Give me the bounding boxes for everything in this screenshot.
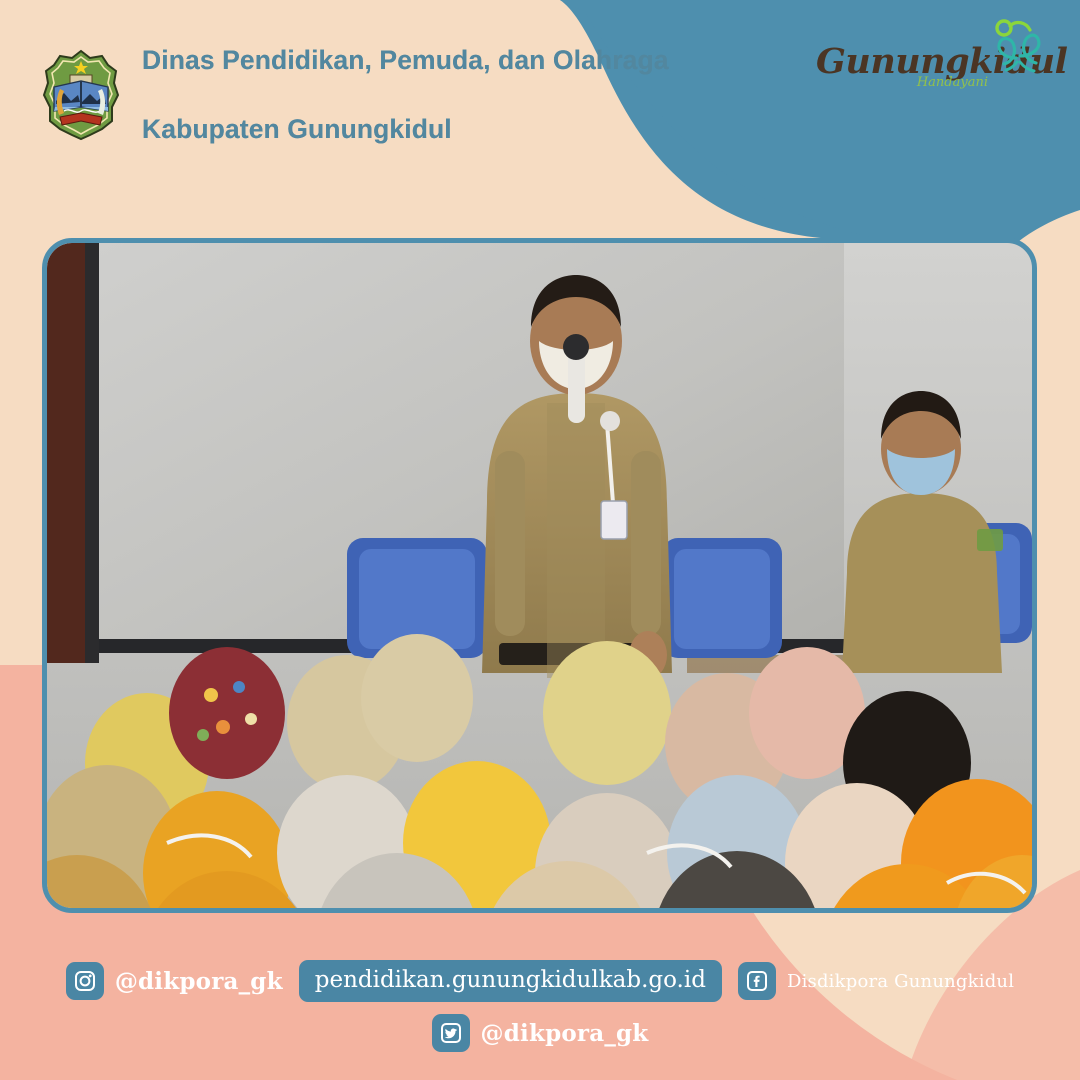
org-title-line-1: Dinas Pendidikan, Pemuda, dan Olahraga <box>142 43 669 77</box>
facebook-page-name: Disdikpora Gunungkidul <box>787 971 1014 992</box>
twitter-link[interactable]: @dikpora_gk <box>432 1014 649 1052</box>
attendee-pattern-dot <box>245 713 257 725</box>
footer-row-primary: @dikpora_gk pendidikan.gunungkidulkab.go… <box>66 960 1014 1002</box>
facebook-link[interactable]: Disdikpora Gunungkidul <box>738 962 1014 1000</box>
panel-edge <box>85 243 99 663</box>
ornament-swirl-2 <box>1020 35 1039 63</box>
facebook-icon[interactable] <box>738 962 776 1000</box>
website-url-button[interactable]: pendidikan.gunungkidulkab.go.id <box>299 960 722 1002</box>
butterfly-ornament-icon <box>986 18 1050 76</box>
gunungkidul-brandmark: Gunungkidul Handayani <box>816 44 1046 90</box>
instagram-icon[interactable] <box>66 962 104 1000</box>
facebook-glyph <box>745 969 769 993</box>
chair-mid-pad <box>674 549 770 649</box>
twitter-glyph <box>439 1021 463 1045</box>
social-footer: @dikpora_gk pendidikan.gunungkidulkab.go… <box>0 960 1080 1052</box>
instagram-handle: @dikpora_gk <box>115 968 283 995</box>
officer-shoulder-patch <box>977 529 1003 551</box>
crest-svg <box>42 49 120 141</box>
footer-row-secondary: @dikpora_gk <box>432 1014 649 1052</box>
header-bar: Dinas Pendidikan, Pemuda, dan Olahraga K… <box>0 0 700 190</box>
badge-clip <box>600 411 620 431</box>
event-photo-inner <box>47 243 1032 908</box>
attendee-pattern-dot <box>216 720 230 734</box>
org-title-line-2: Kabupaten Gunungkidul <box>142 112 669 146</box>
attendee-head <box>543 641 671 785</box>
speaker-arm-right <box>631 451 661 636</box>
coat-of-arms-icon <box>42 49 120 141</box>
twitter-icon[interactable] <box>432 1014 470 1052</box>
ornament-arc <box>1010 23 1030 30</box>
shirt-placket <box>547 403 605 678</box>
event-photo <box>42 238 1037 913</box>
microphone-head <box>563 334 589 360</box>
wood-panel-left <box>47 243 85 663</box>
instagram-glyph <box>73 969 97 993</box>
ornament-tail-2 <box>1020 62 1034 71</box>
attendee-pattern-dot <box>233 681 245 693</box>
page-title: Dinas Pendidikan, Pemuda, dan Olahraga K… <box>142 9 669 181</box>
event-photo-illustration <box>47 243 1032 908</box>
poster-canvas: Dinas Pendidikan, Pemuda, dan Olahraga K… <box>0 0 1080 1080</box>
speaker-arm-left <box>495 451 525 636</box>
ornament-circle <box>997 21 1011 35</box>
twitter-handle: @dikpora_gk <box>481 1020 649 1047</box>
attendee-head <box>361 634 473 762</box>
attendee-pattern-dot <box>197 729 209 741</box>
id-badge <box>601 501 627 539</box>
attendee-pattern-dot <box>204 688 218 702</box>
officer-uniform <box>842 493 1002 673</box>
attendee-head <box>169 647 285 779</box>
instagram-link[interactable]: @dikpora_gk <box>66 962 283 1000</box>
ornament-swirl-1 <box>999 39 1016 64</box>
